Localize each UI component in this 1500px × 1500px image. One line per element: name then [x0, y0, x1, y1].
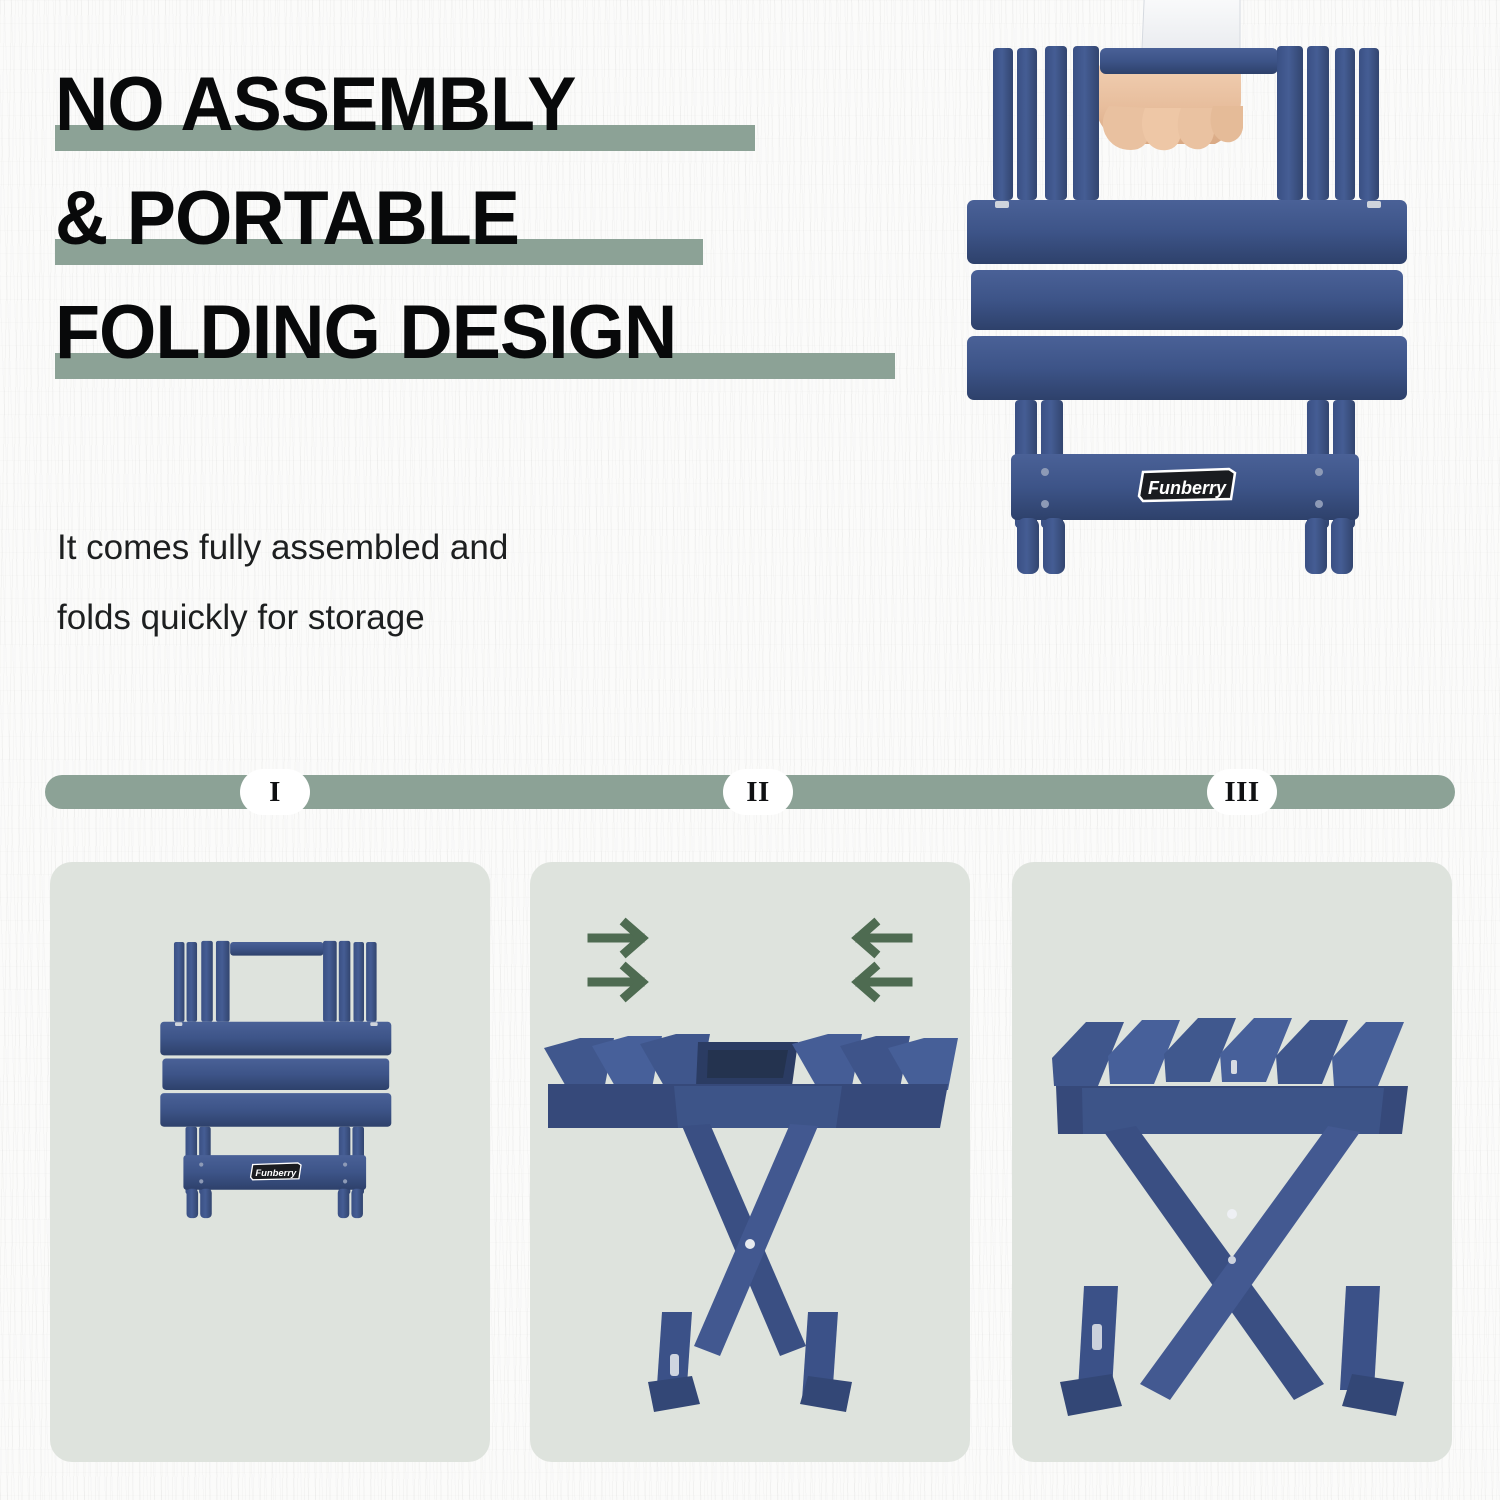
- headline-line-1: NO ASSEMBLY: [55, 55, 935, 163]
- p1-feet: [187, 1189, 363, 1218]
- subtitle-line-2: folds quickly for storage: [57, 583, 697, 653]
- p2-x-legs: [682, 1124, 818, 1356]
- p1-bottom-rail: Funberry: [183, 1155, 366, 1190]
- folded-top-slats-right: [1277, 46, 1379, 200]
- svg-text:Funberry: Funberry: [1148, 478, 1227, 498]
- p3-x-legs: [1104, 1126, 1360, 1400]
- headline-text-3: FOLDING DESIGN: [55, 283, 909, 383]
- p1-top-slats: [174, 941, 377, 1022]
- headline-block: NO ASSEMBLY & PORTABLE FOLDING DESIGN: [55, 55, 935, 397]
- step-badge-1[interactable]: I: [240, 769, 310, 815]
- hero-product-image: Funberry: [955, 10, 1455, 710]
- step-progress-bar: I II III: [45, 775, 1455, 809]
- p1-body-slats: [160, 1022, 391, 1127]
- headline-line-3: FOLDING DESIGN: [55, 283, 935, 391]
- arrow-right-icon-group: [592, 924, 642, 996]
- p2-top-slats-left: [544, 1034, 710, 1090]
- step-panel-1: Funberry: [50, 862, 490, 1462]
- p3-feet: [1060, 1374, 1404, 1416]
- p2-feet: [648, 1376, 852, 1412]
- brand-logo-badge: Funberry: [1139, 469, 1235, 501]
- folded-feet: [1017, 518, 1353, 574]
- subtitle-block: It comes fully assembled and folds quick…: [57, 513, 697, 653]
- p2-center-well: [696, 1042, 798, 1086]
- step-badge-3[interactable]: III: [1207, 769, 1277, 815]
- p2-top-slats-right: [792, 1034, 958, 1090]
- p1-brand-logo-badge: Funberry: [251, 1163, 301, 1180]
- step-3-image: [1012, 862, 1452, 1462]
- headline-line-2: & PORTABLE: [55, 169, 935, 277]
- carry-handle: [1100, 48, 1278, 74]
- folded-body-slats: [967, 200, 1407, 400]
- folded-top-slats-left: [993, 46, 1099, 200]
- step-panel-3: [1012, 862, 1452, 1462]
- step-panels-row: Funberry: [0, 862, 1500, 1462]
- step-1-image: Funberry: [50, 862, 490, 1462]
- arrow-left-icon-group: [858, 924, 908, 996]
- bottom-rail: Funberry: [1011, 454, 1359, 520]
- hand-holding-handle: [1093, 0, 1243, 150]
- step-2-image: [530, 862, 970, 1462]
- headline-text-2: & PORTABLE: [55, 169, 909, 269]
- subtitle-line-1: It comes fully assembled and: [57, 513, 697, 583]
- p3-top-slats: [1052, 1018, 1404, 1086]
- step-badge-2[interactable]: II: [723, 769, 793, 815]
- headline-text-1: NO ASSEMBLY: [55, 55, 909, 155]
- step-panel-2: [530, 862, 970, 1462]
- svg-text:Funberry: Funberry: [255, 1168, 297, 1179]
